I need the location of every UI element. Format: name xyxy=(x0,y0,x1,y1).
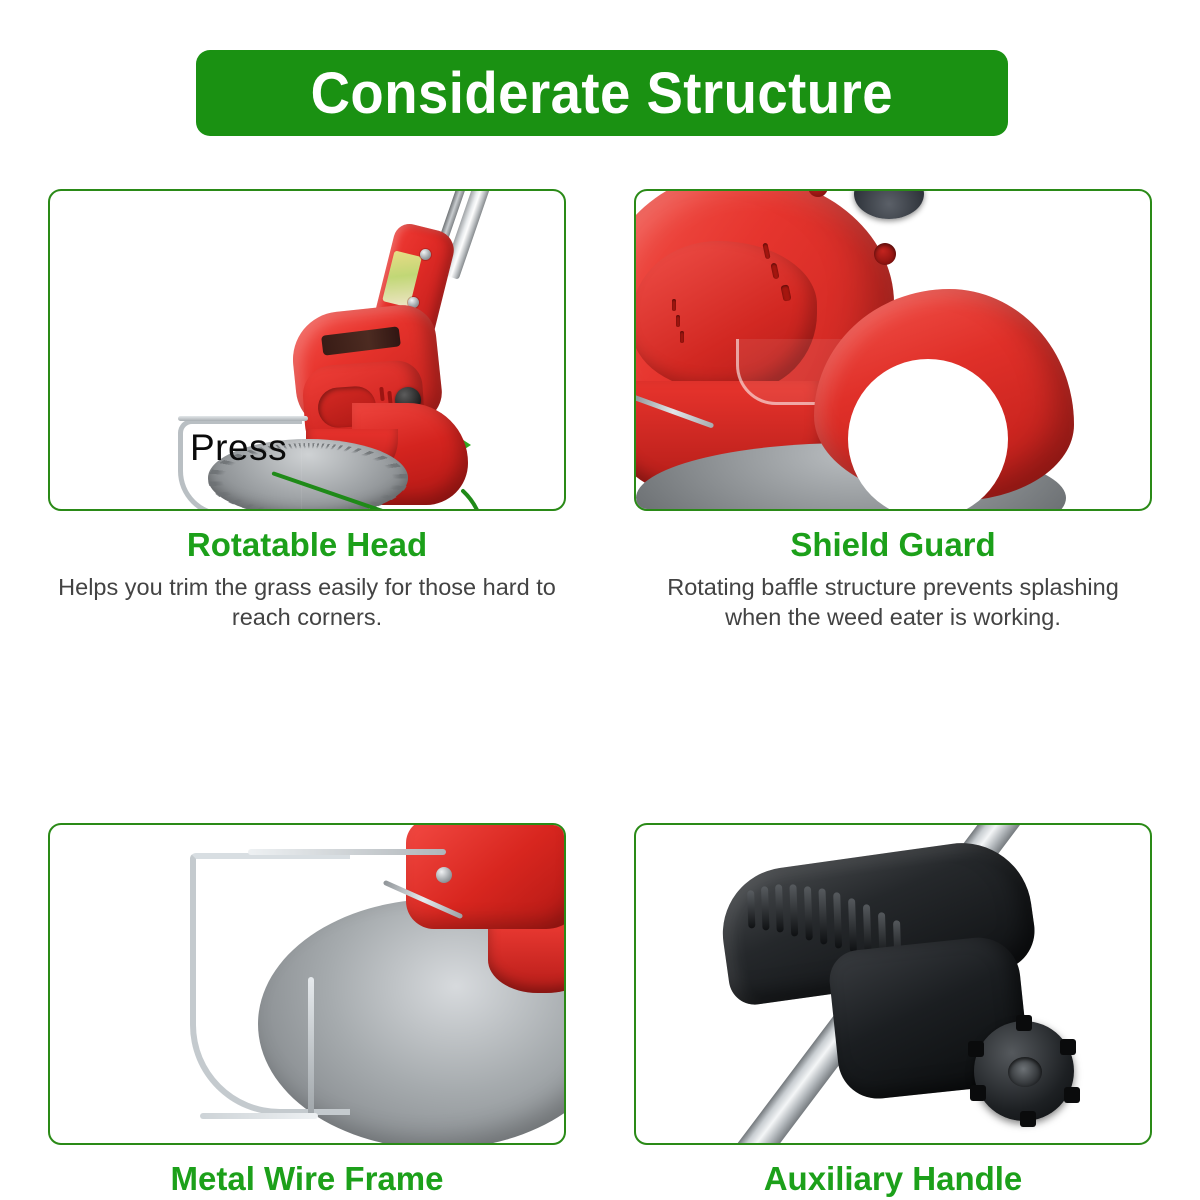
motor-housing xyxy=(406,823,566,929)
metal-wire-frame-top xyxy=(248,849,446,855)
product-photo-auxiliary-handle xyxy=(634,823,1152,1145)
knob-bolt-hole xyxy=(1008,1057,1042,1087)
product-photo-shield-guard: Down xyxy=(634,189,1152,511)
product-photo-metal-wire-frame xyxy=(48,823,566,1145)
vent-slot xyxy=(672,299,676,311)
screw-icon xyxy=(436,867,452,883)
page-title: Considerate Structure xyxy=(311,60,893,127)
card-title-shield-guard: Shield Guard xyxy=(634,528,1152,563)
infographic-page: Considerate Structure xyxy=(0,0,1200,1200)
card-title-auxiliary-handle: Auxiliary Handle xyxy=(634,1162,1152,1197)
feature-row-2: Metal Wire Frame Protects the blade unde… xyxy=(48,823,1152,1200)
product-photo-rotatable-head: Press 60° xyxy=(48,189,566,511)
metal-wire-frame-top xyxy=(178,416,308,421)
card-description-shield-guard: Rotating baffle structure prevents splas… xyxy=(634,572,1152,632)
header-banner: Considerate Structure xyxy=(196,50,1008,136)
metal-wire-frame-vertical xyxy=(308,977,314,1119)
screw-hole xyxy=(874,243,896,265)
guard-cutout xyxy=(848,359,1008,511)
feature-card-auxiliary-handle: Auxiliary Handle Can be adjusted and mak… xyxy=(634,823,1152,1200)
press-annotation-label: Press xyxy=(190,427,287,469)
feature-card-shield-guard: Down Shield Guard Rotating baffle struct… xyxy=(634,189,1152,632)
card-title-metal-wire-frame: Metal Wire Frame xyxy=(48,1162,566,1197)
blade-hub xyxy=(488,921,566,993)
feature-grid: Press 60° Rotatable Head Helps you trim … xyxy=(48,189,1152,1200)
card-title-rotatable-head: Rotatable Head xyxy=(48,528,566,563)
feature-card-metal-wire-frame: Metal Wire Frame Protects the blade unde… xyxy=(48,823,566,1200)
vent-slot xyxy=(680,331,684,343)
metal-wire-frame-bottom xyxy=(200,1113,318,1119)
direction-button-label: Down xyxy=(866,189,908,194)
card-description-rotatable-head: Helps you trim the grass easily for thos… xyxy=(48,572,566,632)
feature-row-1: Press 60° Rotatable Head Helps you trim … xyxy=(48,189,1152,632)
feature-card-rotatable-head: Press 60° Rotatable Head Helps you trim … xyxy=(48,189,566,632)
screw-icon xyxy=(420,249,431,260)
rotation-arc-arrow-icon xyxy=(445,483,515,511)
metal-wire-frame xyxy=(190,853,350,1115)
vent-slot xyxy=(676,315,680,327)
